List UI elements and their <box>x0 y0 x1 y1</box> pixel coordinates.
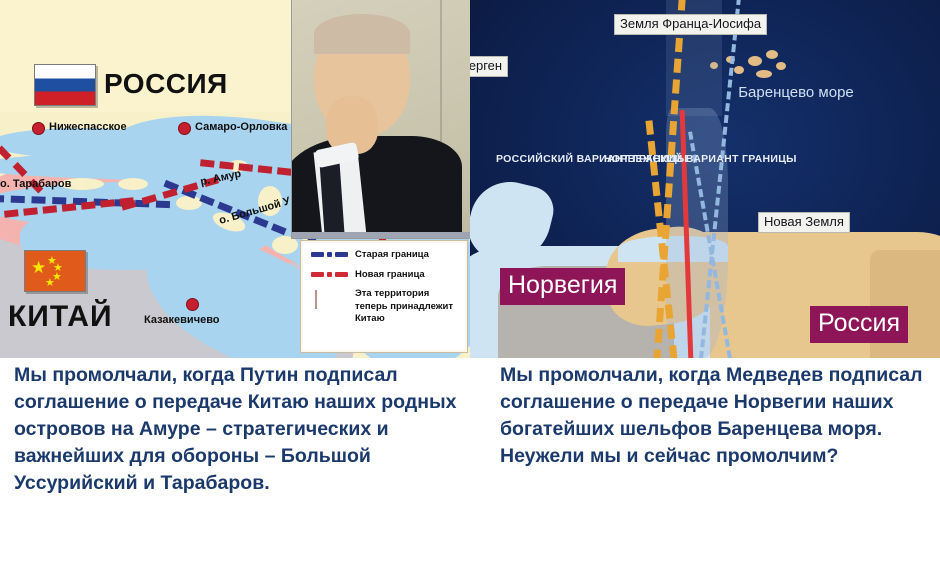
legend-item-old-border: Старая граница <box>311 249 461 262</box>
city-dot-icon <box>178 122 191 135</box>
label-norwegian-border-variant: НОРВЕЖСКИЙ ВАРИАНТ ГРАНИЦЫ <box>604 152 797 168</box>
caption-area: Мы промолчали, когда Путин подписал согл… <box>0 358 940 580</box>
color-swatch-icon <box>315 290 317 309</box>
meme-image: РОССИЯ ★ ★ ★ ★ ★ КИТАЙ Нижеспасское Сама… <box>0 0 940 580</box>
legend-label: Новая граница <box>355 269 425 282</box>
label-barents-sea: Баренцево море <box>736 84 856 101</box>
label-novaya-zemlya: Новая Земля <box>758 212 850 233</box>
city-dot-icon <box>186 298 199 311</box>
franz-josef-islet <box>776 62 786 70</box>
legend-item-ceded-territory: Эта территория теперь принадлежит Китаю <box>311 288 461 326</box>
legend-label: Старая граница <box>355 249 429 262</box>
legend-item-new-border: Новая граница <box>311 269 461 282</box>
star-icon: ★ <box>45 278 55 289</box>
city-label: Казакевичево <box>144 314 220 326</box>
legend-key <box>311 269 355 277</box>
franz-josef-islet <box>756 70 772 78</box>
label-franz-josef-land: Земля Франца-Иосифа <box>614 14 767 35</box>
city-dot-icon <box>32 122 45 135</box>
city-label: Нижеспасское <box>49 121 127 133</box>
river-island <box>272 236 298 254</box>
franz-josef-islet <box>734 66 744 74</box>
caption-right: Мы промолчали, когда Медведев подписал с… <box>500 362 940 470</box>
legend-key <box>311 288 355 309</box>
island-label-tarabarov: о. Тарабаров <box>0 178 71 190</box>
city-label: Самаро-Орловка <box>195 121 287 133</box>
country-label-china: КИТАЙ <box>8 300 113 334</box>
franz-josef-islet <box>748 56 762 66</box>
china-flag-icon: ★ ★ ★ ★ ★ <box>24 250 86 292</box>
legend-label: Эта территория теперь принадлежит Китаю <box>355 288 461 326</box>
russia-flag-icon <box>34 64 96 106</box>
label-spitsbergen: цберген <box>470 56 508 77</box>
legend-key <box>311 249 355 257</box>
country-label-russia: РОССИЯ <box>104 68 228 100</box>
river-island <box>118 178 148 190</box>
image-band: РОССИЯ ★ ★ ★ ★ ★ КИТАЙ Нижеспасское Сама… <box>0 0 940 358</box>
person-left-hair <box>314 14 410 54</box>
dash-dot-line-icon <box>311 252 355 257</box>
caption-left: Мы промолчали, когда Путин подписал согл… <box>14 362 484 497</box>
dash-dot-line-icon <box>311 272 355 277</box>
star-icon: ★ <box>31 259 46 276</box>
country-label-norway: Норвегия <box>500 268 625 305</box>
map-legend: Старая граница Новая граница Эта террито… <box>300 240 468 353</box>
franz-josef-islet <box>766 50 778 59</box>
country-label-russia: Россия <box>810 306 908 343</box>
barents-sea-map: Земля Франца-Иосифа цберген Новая Земля … <box>470 0 940 358</box>
